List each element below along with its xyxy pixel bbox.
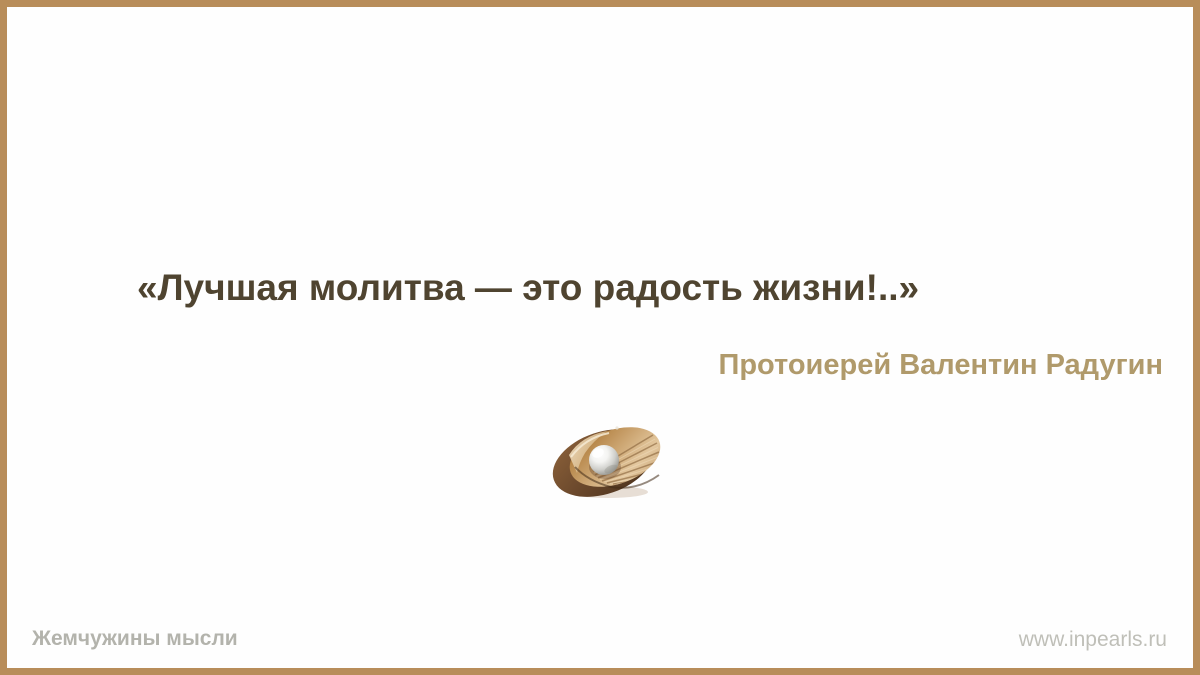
footer-brand: Жемчужины мысли xyxy=(32,625,238,653)
quote-author: Протоиерей Валентин Радугин xyxy=(463,347,1163,383)
footer-website[interactable]: www.inpearls.ru xyxy=(1019,626,1167,654)
quote-card: «Лучшая молитва — это радость жизни!..» … xyxy=(0,0,1200,675)
quote-text: «Лучшая молитва — это радость жизни!..» xyxy=(137,265,1077,311)
pearl-in-shell-icon xyxy=(541,419,675,501)
